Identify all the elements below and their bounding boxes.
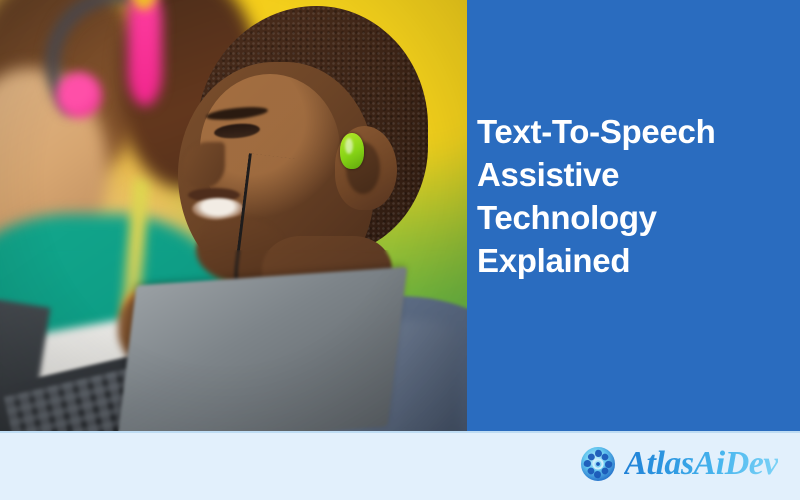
earbud-highlight (345, 138, 353, 154)
footer-bar: AtlasAiDev (0, 431, 800, 500)
brand-name: AtlasAiDev (624, 444, 778, 484)
student-mouth (192, 198, 244, 220)
headline-panel: Text-To-Speech Assistive Technology Expl… (467, 0, 800, 431)
headline-line-3: Technology (477, 196, 793, 239)
page-title: Text-To-Speech Assistive Technology Expl… (477, 110, 793, 282)
pink-headphone-earcup (56, 72, 102, 118)
banner: Text-To-Speech Assistive Technology Expl… (0, 0, 800, 500)
headline-line-4: Explained (477, 239, 793, 282)
pink-hair-tie (128, 0, 162, 106)
headline-line-1: Text-To-Speech (477, 110, 793, 153)
laptop-lid (117, 267, 408, 431)
brand-logo[interactable]: AtlasAiDev (577, 443, 778, 485)
atlasaidev-emblem-icon (577, 443, 619, 485)
hero-photo (0, 0, 468, 431)
headline-line-2: Assistive (477, 153, 793, 196)
footer-divider (0, 431, 800, 433)
